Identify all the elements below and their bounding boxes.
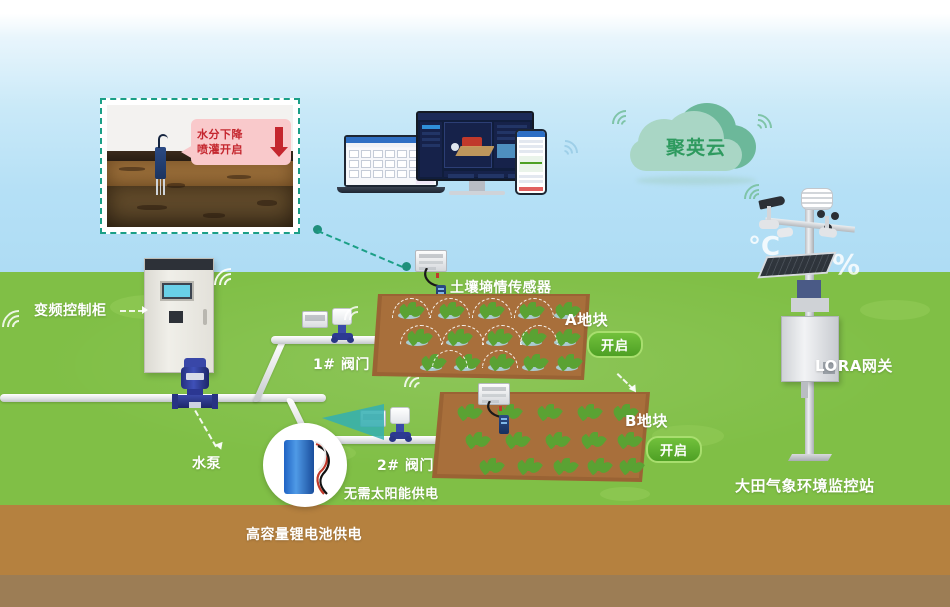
- mobile-phone-device: [515, 129, 547, 195]
- plot-b-status-badge[interactable]: 开启: [646, 436, 702, 463]
- moisture-alert-bubble: 水分下降 喷灌开启: [191, 119, 291, 165]
- plot-b-sensor-probe: [499, 415, 509, 434]
- cloud-label: 聚英云: [648, 133, 744, 160]
- cabinet-pointer-line: [120, 310, 144, 312]
- down-arrow-icon: [275, 127, 283, 147]
- cabinet-header: [145, 259, 213, 270]
- control-cabinet-label: 变频控制柜: [34, 300, 107, 320]
- cabinet-knob: [169, 311, 183, 323]
- connector-dot: [402, 262, 411, 271]
- vfd-control-cabinet: [144, 258, 214, 373]
- soil-band-lower: [0, 575, 950, 607]
- soil-probe-icon: [155, 147, 166, 179]
- photo-deepsoil: [107, 186, 293, 227]
- radiation-shield-icon: [801, 188, 833, 210]
- water-pump-label: 水泵: [192, 453, 221, 473]
- probe-pins: [156, 179, 165, 195]
- cabinet-pointer-arrow: [142, 306, 148, 314]
- valve-1-label: 1# 阀门: [313, 354, 370, 374]
- wifi-signal-icon: [748, 112, 778, 152]
- valve-2-label: 2# 阀门: [377, 455, 434, 475]
- cloud-shadow: [636, 176, 756, 185]
- anemometer-cup: [817, 210, 825, 218]
- no-solar-label: 无需太阳能供电: [344, 483, 439, 502]
- mounting-clamp: [791, 298, 829, 312]
- cabinet-handle: [203, 309, 207, 325]
- alert-line-1: 水分下降: [197, 127, 243, 142]
- valve-2-flange: [405, 436, 412, 442]
- soil-moisture-inset-panel: 水分下降 喷灌开启: [100, 98, 300, 234]
- valve-1-flange: [331, 337, 338, 343]
- wifi-signal-icon: [214, 268, 254, 316]
- cabinet-hmi-screen: [160, 281, 194, 301]
- probe-cable: [158, 134, 168, 148]
- soil-band-upper: [0, 505, 950, 575]
- field-plot-b: [432, 392, 650, 482]
- plot-a-label: A地块: [565, 309, 608, 330]
- battery-wire-svg: [314, 438, 336, 496]
- battery-power-label: 高容量锂电池供电: [246, 524, 362, 544]
- cable-gland: [801, 382, 808, 398]
- photo-subsoil: [107, 161, 293, 188]
- valve-2-flange: [389, 436, 396, 442]
- anemometer-body: [818, 227, 837, 238]
- lora-gateway-label: LORA网关: [815, 355, 893, 376]
- soil-cross-section-photo: 水分下降 喷灌开启: [107, 105, 293, 227]
- wifi-signal-icon: [608, 108, 638, 148]
- alert-line-2: 喷灌开启: [197, 142, 243, 157]
- battery-magnifier: [263, 423, 347, 507]
- plot-a-status-badge[interactable]: 开启: [587, 331, 643, 358]
- water-pipe-main: [216, 394, 326, 402]
- weather-station-label: 大田气象环境监控站: [735, 475, 875, 496]
- plot-b-label: B地块: [625, 410, 668, 431]
- valve-1-controller: [302, 311, 328, 328]
- wifi-signal-icon: [744, 184, 784, 230]
- field-plot-a: [372, 294, 590, 380]
- anemometer-cup: [831, 212, 839, 220]
- grass-blob: [600, 487, 650, 501]
- diagram-canvas: 水分下降 喷灌开启: [0, 0, 950, 607]
- alert-text: 水分下降 喷灌开启: [191, 127, 243, 157]
- lithium-battery-icon: [284, 440, 314, 494]
- wifi-signal-icon: [552, 138, 586, 178]
- station-base-plate: [788, 454, 832, 461]
- battery-wires: [314, 438, 336, 496]
- water-pump-device: [172, 358, 218, 408]
